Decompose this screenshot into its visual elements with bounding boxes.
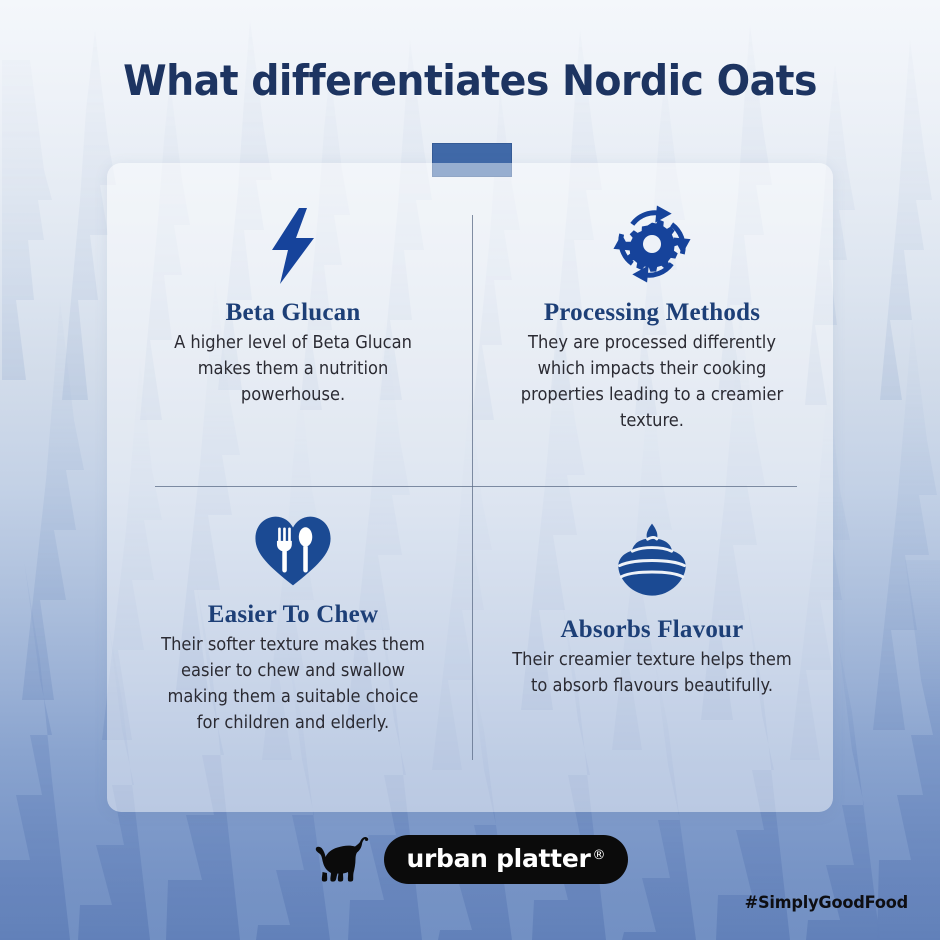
lightning-bolt-icon — [123, 201, 463, 285]
content-card: Beta Glucan A higher level of Beta Gluca… — [107, 163, 833, 812]
horizontal-divider — [155, 486, 797, 487]
quadrant-body: Their softer texture makes them easier t… — [135, 633, 451, 737]
page-title: What differentiates Nordic Oats — [28, 56, 912, 105]
quadrant-easier-to-chew: Easier To Chew Their softer texture make… — [123, 503, 463, 793]
quadrant-title: Processing Methods — [485, 299, 819, 327]
brand-pill: urban platter ® — [384, 835, 627, 884]
quadrant-title: Beta Glucan — [123, 299, 463, 327]
heart-cutlery-icon — [123, 503, 463, 587]
brand-name: urban platter — [406, 844, 590, 873]
infographic-canvas: What differentiates Nordic Oats Beta Glu… — [0, 0, 940, 940]
quadrant-absorbs-flavour: Absorbs Flavour Their creamier texture h… — [485, 518, 819, 798]
quadrant-title: Easier To Chew — [123, 601, 463, 629]
cream-swirl-icon — [485, 518, 819, 602]
quadrant-body: Their creamier texture helps them to abs… — [497, 648, 808, 700]
quadrant-body: A higher level of Beta Glucan makes them… — [135, 331, 451, 409]
elephant-icon — [312, 834, 374, 884]
hashtag: #SimplyGoodFood — [745, 893, 908, 913]
quadrant-body: They are processed differently which imp… — [497, 331, 808, 435]
quadrant-processing-methods: Processing Methods They are processed di… — [485, 201, 819, 481]
registered-mark-icon: ® — [593, 848, 606, 863]
brand-logo: urban platter ® — [0, 834, 940, 884]
quadrant-title: Absorbs Flavour — [485, 616, 819, 644]
gear-cycle-icon — [485, 201, 819, 285]
vertical-divider — [472, 215, 473, 760]
quadrant-beta-glucan: Beta Glucan A higher level of Beta Gluca… — [123, 201, 463, 481]
